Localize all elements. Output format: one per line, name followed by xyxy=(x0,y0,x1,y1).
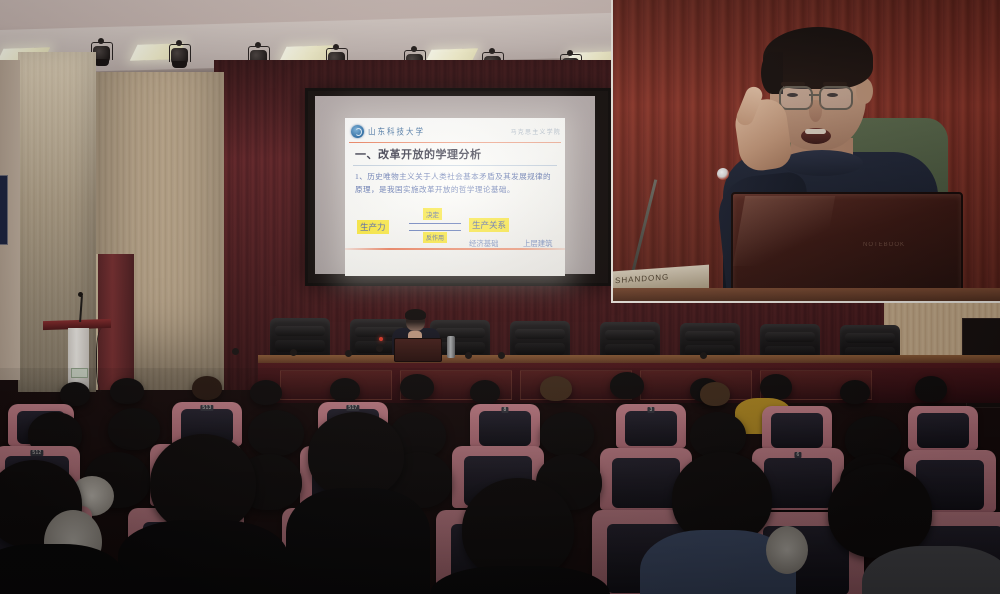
fur-hood-trim xyxy=(766,526,808,574)
inset-desk-surface xyxy=(613,288,1000,302)
audience-head xyxy=(470,380,500,404)
diagram-superstructure-label: 上层建筑 xyxy=(523,238,553,249)
table-microphone xyxy=(700,352,707,359)
table-microphone xyxy=(498,352,505,359)
diagram-arrow-top xyxy=(409,223,461,224)
inset-teeth xyxy=(805,129,826,134)
slide-footer-rule xyxy=(345,248,565,250)
inset-eyeglass-bridge xyxy=(809,94,821,96)
inset-eyeglass-lens xyxy=(779,86,813,110)
audience-head xyxy=(108,408,160,450)
audience-head xyxy=(60,382,90,406)
diagram-arrow-bottom-label: 反作用 xyxy=(423,232,447,243)
wall-artwork xyxy=(0,175,8,245)
microphone-indicator-light xyxy=(379,337,383,341)
table-microphone xyxy=(345,350,352,357)
audience-head-foreground xyxy=(828,464,932,558)
audience-head xyxy=(915,376,947,402)
slide-body-text: 1、历史唯物主义关于人类社会基本矛盾及其发展规律的原理，是我国实施改革开放的哲学… xyxy=(355,170,555,197)
lecturer-hair xyxy=(405,309,426,320)
seat-number: 8 xyxy=(501,407,508,413)
audience-head xyxy=(330,378,360,402)
presentation-slide: 山东科技大学 马克思主义学院 一、改革开放的学理分析 1、历史唯物主义关于人类社… xyxy=(345,118,565,276)
diagram-arrow-top-label: 决定 xyxy=(423,208,442,220)
auditorium-seat[interactable] xyxy=(908,406,978,450)
auditorium-seat[interactable] xyxy=(762,406,832,450)
table-microphone xyxy=(465,352,472,359)
audience-head xyxy=(248,410,304,456)
inset-nose xyxy=(809,100,822,122)
seat-number: 513 xyxy=(200,405,213,411)
audience-shoulders xyxy=(0,544,124,594)
slide-diagram: 生产力 决定 反作用 生产关系 经济基础 上层建筑 xyxy=(353,210,559,252)
lecture-hall-photo: 山东科技大学 马克思主义学院 一、改革开放的学理分析 1、历史唯物主义关于人类社… xyxy=(0,0,1000,594)
audience-head-foreground xyxy=(462,478,574,580)
audience-head xyxy=(400,374,434,400)
inset-speaker-sideburn xyxy=(761,52,783,94)
slide-header-rule xyxy=(349,142,561,143)
audience-shoulders xyxy=(286,488,430,594)
university-logo-icon xyxy=(351,125,364,138)
audience-head xyxy=(700,382,730,406)
audience-shoulders xyxy=(118,520,288,594)
audience-head xyxy=(540,376,572,401)
audience-head xyxy=(540,412,594,456)
diagram-economic-base-label: 经济基础 xyxy=(469,238,499,249)
table-microphone xyxy=(376,345,383,352)
department-name: 马克思主义学院 xyxy=(511,127,561,136)
thermos-flask xyxy=(447,336,455,358)
slide-title: 一、改革开放的学理分析 xyxy=(355,146,482,162)
inset-laptop-glare xyxy=(733,196,835,266)
audience-head xyxy=(760,374,792,400)
audience-head-foreground xyxy=(308,412,404,498)
audience-head xyxy=(610,372,644,399)
seat-number: 6 xyxy=(794,452,801,458)
lecturer-laptop xyxy=(394,338,442,362)
speaker-closeup-inset: NOTEBOOK SHANDONG xyxy=(611,0,1000,303)
audience-head xyxy=(192,376,222,400)
diagram-left-term: 生产力 xyxy=(357,220,389,234)
inset-nameplate-text: SHANDONG xyxy=(615,272,669,285)
stage-spotlight xyxy=(168,42,190,69)
slide-body-rule xyxy=(353,165,557,166)
inset-eyeglass-lens xyxy=(819,86,853,110)
audience-head xyxy=(250,380,282,405)
seat-number: 3 xyxy=(647,407,654,413)
table-microphone xyxy=(232,348,239,355)
seat-number: 517 xyxy=(346,405,359,411)
table-microphone xyxy=(290,349,297,356)
slide-header: 山东科技大学 马克思主义学院 xyxy=(351,121,561,141)
student-audience: 513 517 8 3 512 6 xyxy=(0,368,1000,594)
far-left-wall xyxy=(0,60,20,380)
auditorium-seat[interactable]: 8 xyxy=(470,404,540,448)
audience-head xyxy=(110,378,144,404)
gooseneck-microphone-head xyxy=(717,168,729,180)
inset-laptop-brand: NOTEBOOK xyxy=(863,242,905,248)
university-name: 山东科技大学 xyxy=(368,125,425,138)
diagram-right-term: 生产关系 xyxy=(469,218,509,232)
panel-chair xyxy=(270,318,330,360)
lectern-microphone-head xyxy=(78,292,83,297)
audience-head xyxy=(840,380,870,404)
auditorium-seat[interactable]: 3 xyxy=(616,404,686,448)
audience-head-foreground xyxy=(150,434,256,532)
seat-number: 512 xyxy=(30,450,43,456)
